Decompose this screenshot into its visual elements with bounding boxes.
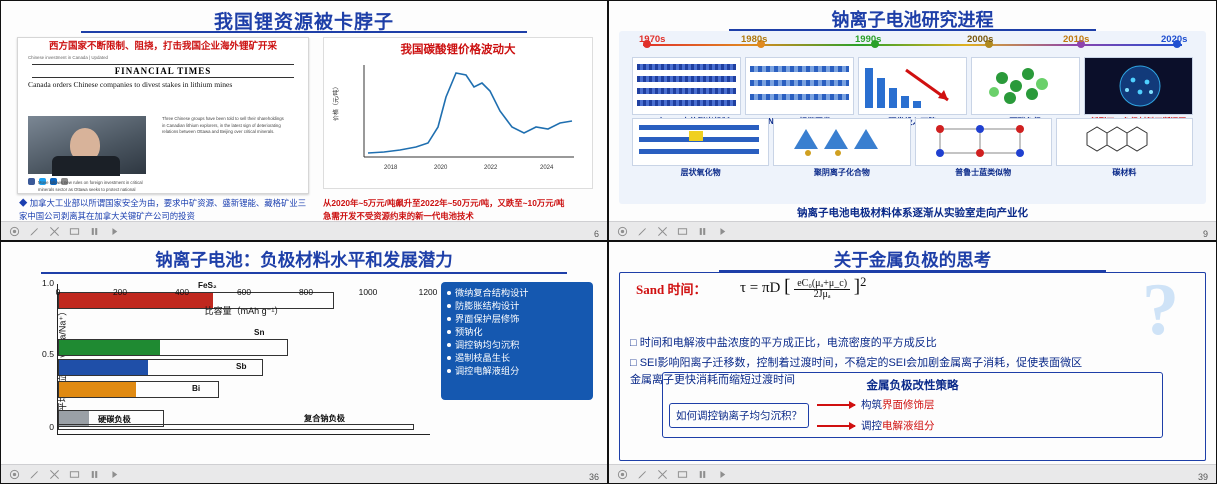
bar-label-bi: Bi xyxy=(192,384,200,393)
material-row: 层状氧化物 聚阴离子化合物 xyxy=(633,118,1192,182)
title-underline xyxy=(41,272,567,274)
list-item: 调控电解液组分 xyxy=(447,365,587,378)
timeline-label: 2020s xyxy=(1161,34,1187,45)
layered-oxide-image xyxy=(632,118,769,166)
bullet-item: ◆ 加拿大工业部以所谓国家安全为由，要求中矿资源、盛新锂能、藏格矿业三家中国公司… xyxy=(19,197,309,222)
list-item-label: 界面保护层修饰 xyxy=(455,313,519,326)
slide-1-canvas: 我国锂资源被卡脖子 西方国家不断限制、阻挠，打击我国企业海外锂矿开采 Chine… xyxy=(1,1,607,240)
list-item-label: 微纳复合结构设计 xyxy=(455,287,529,300)
bullet-dot-icon xyxy=(447,291,451,295)
pause-icon[interactable] xyxy=(697,469,708,480)
timeline-label: 1970s xyxy=(639,34,665,45)
bullet-dot-icon xyxy=(447,369,451,373)
timeline-label: 1980s xyxy=(741,34,767,45)
svg-text:2018: 2018 xyxy=(384,165,398,171)
checkbox-icon: □ xyxy=(630,337,637,349)
slide-4-page-number: 39 xyxy=(1198,472,1208,482)
slide-2-content: 1970s 1980s 1990s 2000s 2010s 2020s Na⁺在… xyxy=(619,31,1206,204)
photo-suit xyxy=(52,156,120,176)
x-axis-label: 比容量（mAh g⁻¹） xyxy=(58,304,430,317)
x-tick: 400 xyxy=(175,287,189,297)
question-box: 如何调控钠离子均匀沉积？ xyxy=(669,403,809,428)
arrow-icon xyxy=(817,425,855,427)
bullet-item: 从2020年~5万元/吨飙升至2022年~50万元/吨，又跌至~10万元/吨 xyxy=(323,197,593,210)
news-photo xyxy=(28,116,146,174)
laser-icon[interactable] xyxy=(657,469,668,480)
answer-highlight: 电解液组分 xyxy=(882,420,935,432)
formula-denominator: 2Jμₐ xyxy=(814,289,831,300)
bar-sb xyxy=(58,359,263,376)
laser-icon[interactable] xyxy=(49,226,60,237)
material-label: 层状氧化物 xyxy=(681,167,721,178)
pen-icon[interactable] xyxy=(637,469,648,480)
pause-icon[interactable] xyxy=(697,226,708,237)
slide-1-bullets-right: 从2020年~5万元/吨飙升至2022年~50万元/吨，又跌至~10万元/吨 急… xyxy=(323,197,593,222)
timeline-label: 1990s xyxy=(855,34,881,45)
bar-label-composite-na: 复合钠负极 xyxy=(304,412,345,424)
slide-4: 关于金属负极的思考 Sand 时间： τ = πD [ eC₀(μₐ+μ_c) … xyxy=(608,241,1217,484)
bar-label-fes2: FeS₂ xyxy=(198,281,217,290)
news-meta: Chinese investment in Canada | Updated xyxy=(28,55,298,62)
carbon-model xyxy=(1057,119,1192,165)
question-mark-icon: ? xyxy=(1142,281,1179,340)
record-icon[interactable] xyxy=(617,226,628,237)
strategy-panel-title: 金属负极改性策略 xyxy=(669,377,1156,393)
slides-icon[interactable] xyxy=(69,226,80,237)
slide-4-toolbar[interactable] xyxy=(609,464,1216,483)
pen-icon[interactable] xyxy=(29,226,40,237)
material-label: 普鲁士蓝类似物 xyxy=(955,167,1011,178)
point-1: □ 时间和电解液中盐浓度的平方成正比，电流密度的平方成反比 xyxy=(630,335,1189,352)
slides-icon[interactable] xyxy=(677,469,688,480)
record-icon[interactable] xyxy=(9,469,20,480)
new-materials-image xyxy=(1084,57,1193,115)
strategy-list: 微纳复合结构设计 防膨胀结构设计 界面保护层修饰 预钠化 调控钠均匀沉积 遏制枝… xyxy=(441,282,593,400)
news-masthead: FINANCIAL TIMES xyxy=(32,64,294,78)
bullet-text: 加拿大工业部以所谓国家安全为由，要求中矿资源、盛新锂能、藏格矿业三家中国公司剥离… xyxy=(19,198,306,221)
bar-label-sn: Sn xyxy=(254,328,264,337)
list-item-label: 预钠化 xyxy=(455,326,483,339)
svg-text:价格（元/吨）: 价格（元/吨） xyxy=(332,83,340,121)
news-body-right: Three Chinese groups have been told to s… xyxy=(162,116,288,136)
slide-1: 我国锂资源被卡脖子 西方国家不断限制、阻挠，打击我国企业海外锂矿开采 Chine… xyxy=(0,0,608,241)
x-tick: 600 xyxy=(237,287,251,297)
pen-icon[interactable] xyxy=(637,226,648,237)
x-tick: 1000 xyxy=(359,287,378,297)
news-clipping: 西方国家不断限制、阻挠，打击我国企业海外锂矿开采 Chinese investm… xyxy=(17,37,309,194)
timeline-line xyxy=(643,44,1182,46)
x-tick: 800 xyxy=(299,287,313,297)
nanosphere-model xyxy=(1085,58,1192,114)
slide-1-title: 我国锂资源被卡脖子 xyxy=(1,1,607,34)
strategy-panel: 金属负极改性策略 如何调控钠离子均匀沉积？ 构筑界面修饰层 调控电解液组分 xyxy=(662,372,1163,438)
checkbox-icon: □ xyxy=(630,357,637,369)
svg-text:2022: 2022 xyxy=(484,165,498,171)
slide-4-frame: Sand 时间： τ = πD [ eC₀(μₐ+μ_c) 2Jμₐ ]2 ? … xyxy=(619,272,1206,461)
list-item-label: 调控电解液组分 xyxy=(455,365,519,378)
material-cell: 碳材料 xyxy=(1057,118,1192,182)
answer-prefix: 构筑 xyxy=(861,399,882,411)
pause-icon[interactable] xyxy=(89,469,100,480)
bullet-dot-icon xyxy=(447,343,451,347)
news-column-right: Three Chinese groups have been told to s… xyxy=(152,114,298,138)
svg-text:2020: 2020 xyxy=(434,165,448,171)
slide-1-page-number: 6 xyxy=(594,229,599,239)
bar-sn xyxy=(58,339,288,356)
list-item: 界面保护层修饰 xyxy=(447,313,587,326)
bullet-dot-icon xyxy=(447,317,451,321)
prussian-blue-image xyxy=(915,118,1052,166)
timeline: 1970s 1980s 1990s 2000s 2010s 2020s xyxy=(633,37,1192,53)
title-underline xyxy=(81,31,527,33)
next-icon[interactable] xyxy=(109,226,120,237)
list-item: 遏制枝晶生长 xyxy=(447,352,587,365)
news-red-headline: 西方国家不断限制、阻挠，打击我国企业海外锂矿开采 xyxy=(18,41,308,53)
bullet-dot-icon xyxy=(447,356,451,360)
answer-highlight: 界面修饰层 xyxy=(882,399,935,411)
next-icon[interactable] xyxy=(717,469,728,480)
list-item: 防膨胀结构设计 xyxy=(447,300,587,313)
news-body-left: Move follows new rules on foreign invest… xyxy=(38,180,150,194)
news-headline: Canada orders Chinese companies to dives… xyxy=(28,80,298,89)
point-1-text: 时间和电解液中盐浓度的平方成正比，电流密度的平方成反比 xyxy=(640,337,937,349)
list-item: 预钠化 xyxy=(447,326,587,339)
slide-3: 钠离子电池：负极材料水平和发展潜力 平均电位（V vs Na/Na⁺） 1.0 … xyxy=(0,241,608,484)
material-cell: 层状氧化物 xyxy=(633,118,768,182)
list-item: 调控钠均匀沉积 xyxy=(447,339,587,352)
carbon-material-image xyxy=(1056,118,1193,166)
lithium-price-chart: 我国碳酸锂价格波动大 2018 2020 2022 2024 价格（元/吨） xyxy=(323,37,593,189)
formula-fraction: eC₀(μₐ+μ_c) 2Jμₐ xyxy=(794,278,850,300)
answer-text: 构筑界面修饰层 xyxy=(861,397,935,412)
laser-icon[interactable] xyxy=(49,469,60,480)
slide-4-canvas: 关于金属负极的思考 Sand 时间： τ = πD [ eC₀(μₐ+μ_c) … xyxy=(609,242,1216,483)
answer-row: 调控电解液组分 xyxy=(817,418,935,433)
strategy-panel-row: 如何调控钠离子均匀沉积？ 构筑界面修饰层 调控电解液组分 xyxy=(669,397,1156,433)
x-tick: 200 xyxy=(113,287,127,297)
slide-2-title: 钠离子电池研究进程 xyxy=(609,1,1216,32)
slide-4-title: 关于金属负极的思考 xyxy=(609,242,1216,272)
layered-oxide-model xyxy=(633,119,768,165)
slide-2: 钠离子电池研究进程 1970s 1980s 1990s 2000s 2010s xyxy=(608,0,1217,241)
answer-row: 构筑界面修饰层 xyxy=(817,397,935,412)
material-label: 碳材料 xyxy=(1112,167,1136,178)
slide-2-page-number: 9 xyxy=(1203,229,1208,239)
record-icon[interactable] xyxy=(617,469,628,480)
y-tick: 1.0 xyxy=(30,278,54,288)
decline-arrow-icon xyxy=(902,66,962,106)
sand-time-formula: τ = πD [ eC₀(μₐ+μ_c) 2Jμₐ ]2 xyxy=(740,275,866,300)
slide-2-footer-note: 钠离子电池电极材料体系逐渐从实验室走向产业化 xyxy=(609,205,1216,220)
y-tick: 0 xyxy=(30,422,54,432)
anode-capacity-chart: 平均电位（V vs Na/Na⁺） 1.0 0.5 0 FeS₂ Sn xyxy=(57,284,430,435)
slide-3-title: 钠离子电池：负极材料水平和发展潜力 xyxy=(1,242,607,272)
price-line-svg: 2018 2020 2022 2024 价格（元/吨） xyxy=(324,57,590,181)
slides-icon[interactable] xyxy=(677,226,688,237)
slide-3-toolbar[interactable] xyxy=(1,464,607,483)
svg-text:2024: 2024 xyxy=(540,165,554,171)
slide-2-canvas: 钠离子电池研究进程 1970s 1980s 1990s 2000s 2010s xyxy=(609,1,1216,240)
formula-exponent: 2 xyxy=(860,275,866,289)
bullet-dot-icon xyxy=(447,330,451,334)
pause-icon[interactable] xyxy=(89,226,100,237)
slide-grid: 我国锂资源被卡脖子 西方国家不断限制、阻挠，打击我国企业海外锂矿开采 Chine… xyxy=(0,0,1217,484)
bar-label-sb: Sb xyxy=(236,362,246,371)
polyanion-model xyxy=(774,119,909,165)
next-icon[interactable] xyxy=(109,469,120,480)
material-cell: 聚阴离子化合物 xyxy=(774,118,909,182)
x-tick: 0 xyxy=(56,287,61,297)
answer-prefix: 调控 xyxy=(861,420,882,432)
facebook-icon[interactable] xyxy=(28,178,35,185)
answer-text: 调控电解液组分 xyxy=(861,418,935,433)
tis2-structure-image xyxy=(632,57,741,115)
list-item-label: 调控钠均匀沉积 xyxy=(455,339,519,352)
material-cell: 普鲁士蓝类似物 xyxy=(916,118,1051,182)
list-item-label: 遏制枝晶生长 xyxy=(455,352,510,365)
material-label: 聚阴离子化合物 xyxy=(814,167,870,178)
slides-icon[interactable] xyxy=(69,469,80,480)
slide-2-toolbar[interactable] xyxy=(609,221,1216,240)
list-item: 微纳复合结构设计 xyxy=(447,287,587,300)
sand-time-label: Sand 时间： xyxy=(636,279,706,298)
bar-composite-na xyxy=(58,424,414,430)
decline-bars-image xyxy=(858,57,967,115)
formula-lhs: τ = πD xyxy=(740,280,780,296)
slide-3-canvas: 钠离子电池：负极材料水平和发展潜力 平均电位（V vs Na/Na⁺） 1.0 … xyxy=(1,242,607,483)
laser-icon[interactable] xyxy=(657,226,668,237)
hard-carbon-image xyxy=(971,57,1080,115)
record-icon[interactable] xyxy=(9,226,20,237)
y-tick: 0.5 xyxy=(30,349,54,359)
next-icon[interactable] xyxy=(717,226,728,237)
timeline-label: 2010s xyxy=(1063,34,1089,45)
x-tick: 1200 xyxy=(419,287,438,297)
arrow-icon xyxy=(817,404,855,406)
chart-title: 我国碳酸锂价格波动大 xyxy=(324,41,592,57)
timeline-label: 2000s xyxy=(967,34,993,45)
nameo2-structure-image xyxy=(745,57,854,115)
pen-icon[interactable] xyxy=(29,469,40,480)
hard-carbon-model xyxy=(972,58,1079,114)
slide-3-page-number: 36 xyxy=(589,472,599,482)
list-item-label: 防膨胀结构设计 xyxy=(455,300,519,313)
slide-1-toolbar[interactable] xyxy=(1,221,607,240)
polyanion-image xyxy=(773,118,910,166)
bullet-dot-icon xyxy=(447,304,451,308)
prussian-blue-model xyxy=(916,119,1051,165)
